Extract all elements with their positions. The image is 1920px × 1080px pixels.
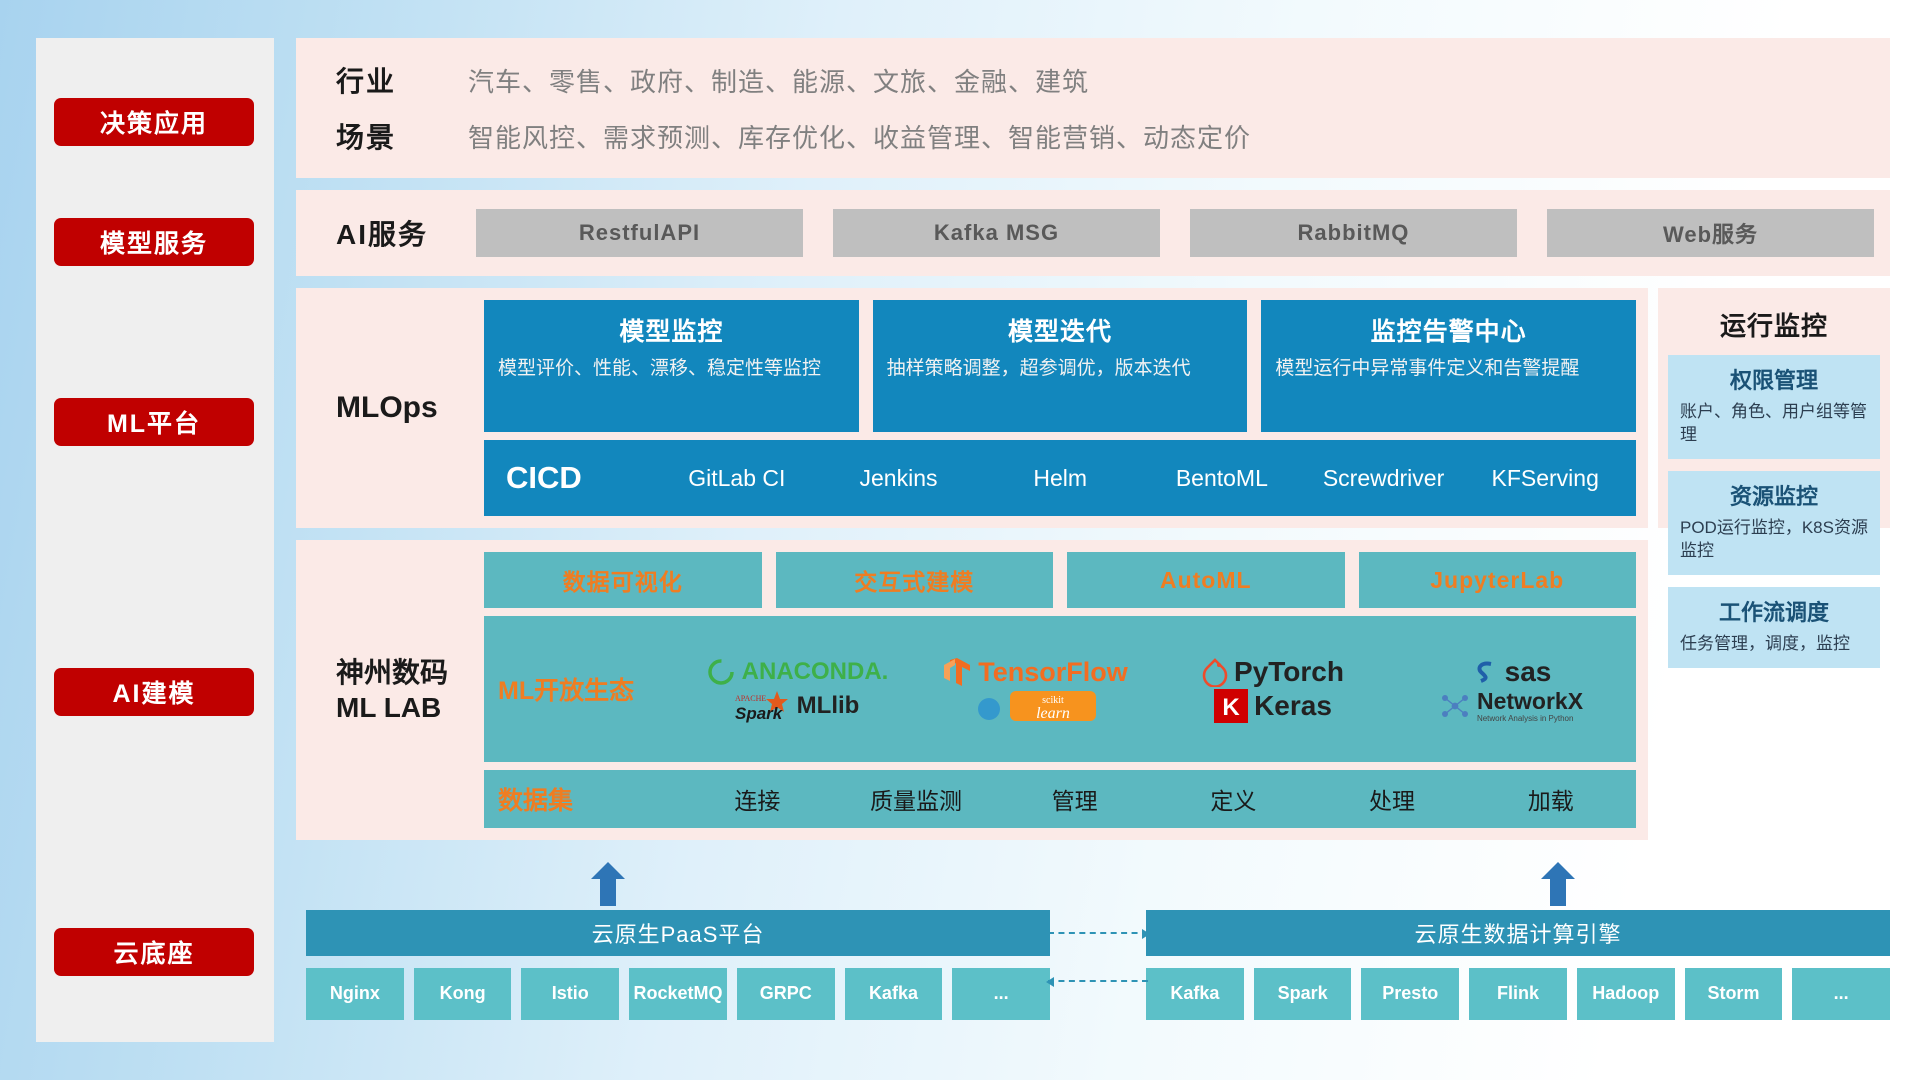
- upward-arrows: [306, 862, 1890, 908]
- cloud-base-columns: 云原生PaaS平台 Nginx Kong Istio RocketMQ GRPC…: [306, 910, 1890, 1020]
- mlops-card-model-iteration[interactable]: 模型迭代 抽样策略调整，超参调优，版本迭代: [873, 300, 1248, 432]
- industry-scenario-list: 行业 汽车、零售、政府、制造、能源、文旅、金融、建筑 场景 智能风控、需求预测、…: [336, 60, 1251, 156]
- cicd-item-kfserving[interactable]: KFServing: [1464, 465, 1626, 491]
- ml-lab-label: 神州数码 ML LAB: [336, 552, 484, 828]
- compute-chip-hadoop[interactable]: Hadoop: [1577, 968, 1675, 1020]
- dataset-item-process[interactable]: 处理: [1313, 782, 1472, 816]
- dataset-items: 连接 质量监测 管理 定义 处理 加载: [678, 782, 1630, 816]
- ml-tool-row: 数据可视化 交互式建模 AutoML JupyterLab: [484, 552, 1636, 608]
- paas-chip-grpc[interactable]: GRPC: [737, 968, 835, 1020]
- industry-label: 行业: [336, 60, 468, 100]
- card-desc: 账户、角色、用户组等管理: [1680, 401, 1868, 447]
- card-title: 权限管理: [1680, 363, 1868, 395]
- card-title: 监控告警中心: [1371, 312, 1527, 348]
- compute-chip-presto[interactable]: Presto: [1361, 968, 1459, 1020]
- card-title: 模型监控: [619, 312, 723, 348]
- compute-chip-more[interactable]: ...: [1792, 968, 1890, 1020]
- mlops-row: MLOps 模型监控 模型评价、性能、漂移、稳定性等监控 模型迭代 抽样策略调整…: [296, 288, 1890, 528]
- scikit-learn-wordmark-icon: scikit learn: [1010, 689, 1096, 723]
- cicd-item-gitlab-ci[interactable]: GitLab CI: [656, 465, 818, 491]
- compute-chip-flink[interactable]: Flink: [1469, 968, 1567, 1020]
- compute-title: 云原生数据计算引擎: [1146, 910, 1890, 956]
- sas-mark-icon: [1471, 658, 1499, 686]
- arrow-up-compute-icon: [1541, 862, 1575, 906]
- dataset-item-define[interactable]: 定义: [1154, 782, 1313, 816]
- keras-mark-icon: K: [1214, 689, 1248, 723]
- scikit-blue-circle-icon: [974, 691, 1004, 721]
- paas-chip-istio[interactable]: Istio: [521, 968, 619, 1020]
- service-chip-web[interactable]: Web服务: [1547, 209, 1874, 257]
- logo-text: ANACONDA.: [742, 658, 889, 686]
- compute-chip-storm[interactable]: Storm: [1685, 968, 1783, 1020]
- ai-service-items: RestfulAPI Kafka MSG RabbitMQ Web服务: [476, 209, 1874, 257]
- rail-item-cloud-base[interactable]: 云底座: [54, 928, 254, 976]
- ai-modeling-band: 神州数码 ML LAB 数据可视化 交互式建模 AutoML JupyterLa…: [296, 540, 1648, 840]
- ml-open-ecosystem-label: ML开放生态: [498, 671, 678, 707]
- compute-chip-kafka[interactable]: Kafka: [1146, 968, 1244, 1020]
- svg-text:K: K: [1222, 694, 1240, 721]
- mlops-card-alert-center[interactable]: 监控告警中心 模型运行中异常事件定义和告警提醒: [1261, 300, 1636, 432]
- logo-text: PyTorch: [1234, 656, 1344, 688]
- paas-chip-more[interactable]: ...: [952, 968, 1050, 1020]
- cicd-items: GitLab CI Jenkins Helm BentoML Screwdriv…: [656, 465, 1626, 491]
- paas-chip-rocketmq[interactable]: RocketMQ: [629, 968, 727, 1020]
- sas-logo: sas: [1471, 656, 1552, 688]
- tool-chip-interactive-modeling[interactable]: 交互式建模: [776, 552, 1054, 608]
- card-desc: 模型运行中异常事件定义和告警提醒: [1275, 356, 1622, 382]
- rail-item-ai-modeling[interactable]: AI建模: [54, 668, 254, 716]
- service-chip-rabbitmq[interactable]: RabbitMQ: [1190, 209, 1517, 257]
- logo-text: Keras: [1254, 690, 1332, 722]
- svg-text:APACHE: APACHE: [735, 694, 766, 703]
- spark-mark-icon: APACHE Spark: [735, 689, 791, 723]
- tool-chip-data-visualization[interactable]: 数据可视化: [484, 552, 762, 608]
- networkx-mark-icon: [1439, 690, 1471, 722]
- card-title: 模型迭代: [1008, 312, 1112, 348]
- networkx-tagline: Network Analysis in Python: [1477, 715, 1583, 723]
- service-chip-restfulapi[interactable]: RestfulAPI: [476, 209, 803, 257]
- band-divider: [296, 276, 1890, 288]
- compute-chip-spark[interactable]: Spark: [1254, 968, 1352, 1020]
- rail-item-model-service[interactable]: 模型服务: [54, 218, 254, 266]
- tool-chip-jupyterlab[interactable]: JupyterLab: [1359, 552, 1637, 608]
- runtime-monitor-column: 运行监控 权限管理 账户、角色、用户组等管理 资源监控 POD运行监控，K8S资…: [1658, 288, 1890, 528]
- decision-application-band: 行业 汽车、零售、政府、制造、能源、文旅、金融、建筑 场景 智能风控、需求预测、…: [296, 38, 1890, 178]
- ai-service-band: AI服务 RestfulAPI Kafka MSG RabbitMQ Web服务: [296, 190, 1890, 276]
- scenario-label: 场景: [336, 116, 468, 156]
- logo-text: sas: [1505, 656, 1552, 688]
- logo-text: TensorFlow: [978, 657, 1128, 688]
- tool-chip-automl[interactable]: AutoML: [1067, 552, 1345, 608]
- cicd-item-jenkins[interactable]: Jenkins: [818, 465, 980, 491]
- spark-mllib-logo: APACHE Spark MLlib: [735, 689, 860, 723]
- cicd-item-helm[interactable]: Helm: [979, 465, 1141, 491]
- cloud-base-section: 云原生PaaS平台 Nginx Kong Istio RocketMQ GRPC…: [306, 862, 1890, 1042]
- ai-service-label: AI服务: [336, 213, 476, 253]
- card-desc: 抽样策略调整，超参调优，版本迭代: [887, 356, 1234, 382]
- svg-text:Spark: Spark: [735, 704, 784, 723]
- dataset-item-manage[interactable]: 管理: [995, 782, 1154, 816]
- logo-text: MLlib: [797, 692, 860, 720]
- mlops-label: MLOps: [336, 300, 484, 516]
- ai-modeling-row: 神州数码 ML LAB 数据可视化 交互式建模 AutoML JupyterLa…: [296, 540, 1890, 840]
- industry-row: 行业 汽车、零售、政府、制造、能源、文旅、金融、建筑: [336, 60, 1251, 100]
- logo-text: NetworkX: [1477, 690, 1583, 713]
- dataset-item-load[interactable]: 加载: [1471, 782, 1630, 816]
- scenario-row: 场景 智能风控、需求预测、库存优化、收益管理、智能营销、动态定价: [336, 116, 1251, 156]
- band-divider: [296, 178, 1890, 190]
- compute-chip-list: Kafka Spark Presto Flink Hadoop Storm ..…: [1146, 968, 1890, 1020]
- dataset-item-quality[interactable]: 质量监测: [837, 782, 996, 816]
- cicd-item-screwdriver[interactable]: Screwdriver: [1303, 465, 1465, 491]
- dataset-label: 数据集: [498, 781, 678, 817]
- ecosystem-logo-grid: ANACONDA. TensorFlow: [678, 655, 1630, 723]
- mlops-card-list: 模型监控 模型评价、性能、漂移、稳定性等监控 模型迭代 抽样策略调整，超参调优，…: [484, 300, 1636, 432]
- anaconda-logo: ANACONDA.: [706, 657, 889, 687]
- band-divider: [296, 528, 1890, 540]
- svg-text:learn: learn: [1036, 705, 1070, 722]
- mlops-card-model-monitoring[interactable]: 模型监控 模型评价、性能、漂移、稳定性等监控: [484, 300, 859, 432]
- cicd-item-bentoml[interactable]: BentoML: [1141, 465, 1303, 491]
- tensorflow-logo: TensorFlow: [942, 656, 1128, 688]
- card-title: 资源监控: [1680, 479, 1868, 511]
- paas-chip-nginx[interactable]: Nginx: [306, 968, 404, 1020]
- pytorch-logo: PyTorch: [1202, 656, 1344, 688]
- layer-label-rail: 决策应用 模型服务 ML平台 AI建模 云底座: [36, 38, 274, 1042]
- rail-item-decision-app[interactable]: 决策应用: [54, 98, 254, 146]
- dataset-item-connect[interactable]: 连接: [678, 782, 837, 816]
- keras-logo: K Keras: [1214, 689, 1332, 723]
- arrow-up-paas-icon: [591, 862, 625, 906]
- cicd-title: CICD: [506, 460, 656, 496]
- monitor-card-permission[interactable]: 权限管理 账户、角色、用户组等管理: [1668, 355, 1880, 459]
- ml-open-ecosystem-row: ML开放生态 ANACONDA.: [484, 616, 1636, 762]
- rail-item-ml-platform[interactable]: ML平台: [54, 398, 254, 446]
- networkx-logo: NetworkX Network Analysis in Python: [1439, 690, 1583, 723]
- mlops-content: 模型监控 模型评价、性能、漂移、稳定性等监控 模型迭代 抽样策略调整，超参调优，…: [484, 300, 1636, 516]
- anaconda-mark-icon: [706, 657, 736, 687]
- card-desc: 模型评价、性能、漂移、稳定性等监控: [498, 356, 845, 382]
- paas-title: 云原生PaaS平台: [306, 910, 1050, 956]
- service-chip-kafka-msg[interactable]: Kafka MSG: [833, 209, 1160, 257]
- tensorflow-mark-icon: [942, 656, 972, 688]
- pytorch-mark-icon: [1202, 657, 1228, 687]
- paas-chip-kafka[interactable]: Kafka: [845, 968, 943, 1020]
- compute-column: 云原生数据计算引擎 Kafka Spark Presto Flink Hadoo…: [1146, 910, 1890, 1020]
- ml-lab-content: 数据可视化 交互式建模 AutoML JupyterLab ML开放生态: [484, 552, 1636, 828]
- dataset-row: 数据集 连接 质量监测 管理 定义 处理 加载: [484, 770, 1636, 828]
- industry-values: 汽车、零售、政府、制造、能源、文旅、金融、建筑: [468, 62, 1089, 99]
- runtime-monitor-title: 运行监控: [1720, 306, 1828, 343]
- paas-column: 云原生PaaS平台 Nginx Kong Istio RocketMQ GRPC…: [306, 910, 1050, 1020]
- scikit-learn-logo: scikit learn: [974, 689, 1096, 723]
- scenario-values: 智能风控、需求预测、库存优化、收益管理、智能营销、动态定价: [468, 118, 1251, 155]
- paas-chip-list: Nginx Kong Istio RocketMQ GRPC Kafka ...: [306, 968, 1050, 1020]
- cicd-bar: CICD GitLab CI Jenkins Helm BentoML Scre…: [484, 440, 1636, 516]
- mlops-band: MLOps 模型监控 模型评价、性能、漂移、稳定性等监控 模型迭代 抽样策略调整…: [296, 288, 1648, 528]
- paas-chip-kong[interactable]: Kong: [414, 968, 512, 1020]
